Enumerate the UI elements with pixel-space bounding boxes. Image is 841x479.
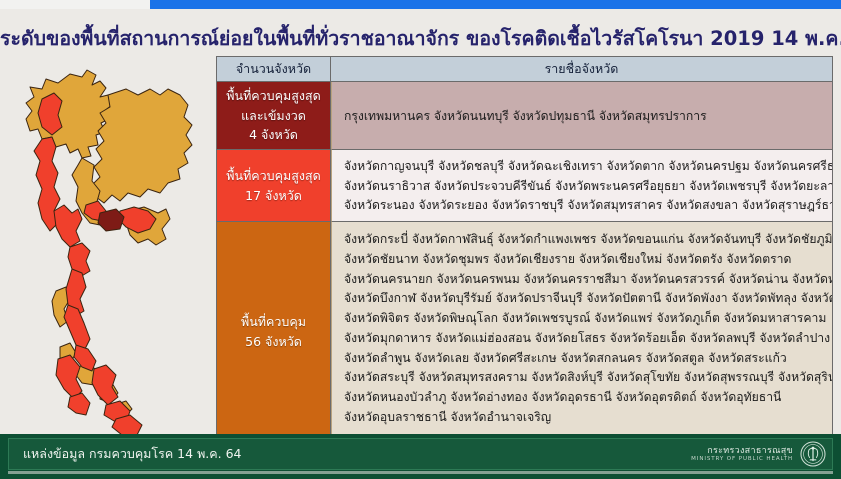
province-line: จังหวัดชัยนาท จังหวัดชุมพร จังหวัดเชียงร…: [344, 250, 822, 270]
table-header-count: จำนวนจังหวัด: [217, 57, 331, 82]
top-strip-left-blank: [0, 0, 150, 9]
footer-divider: [8, 471, 833, 474]
row-label-red: พื้นที่ควบคุมสูงสุด 17 จังหวัด: [217, 150, 331, 222]
data-source-text: แหล่งข้อมูล กรมควบคุมโรค 14 พ.ค. 64: [23, 444, 242, 464]
ministry-text: กระทรวงสาธารณสุข MINISTRY OF PUBLIC HEAL…: [691, 446, 793, 462]
map-region-nakhonsi-red: [92, 365, 118, 405]
row-level-line1: พื้นที่ควบคุมสูงสุด: [226, 166, 320, 185]
thailand-map: [8, 61, 213, 443]
row-province-count: 56 จังหวัด: [245, 332, 302, 351]
province-line: จังหวัดกระบี่ จังหวัดกาฬสินธุ์ จังหวัดกำ…: [344, 230, 822, 250]
province-level-table: จำนวนจังหวัด รายชื่อจังหวัด พื้นที่ควบคุ…: [216, 56, 833, 442]
table-row: พื้นที่ควบคุมสูงสุด 17 จังหวัด จังหวัดกา…: [217, 150, 832, 222]
table-header-province-names: รายชื่อจังหวัด: [331, 57, 832, 82]
thailand-map-svg: [8, 61, 213, 443]
ministry-branding: กระทรวงสาธารณสุข MINISTRY OF PUBLIC HEAL…: [691, 441, 826, 467]
province-lines: จังหวัดกาญจนบุรี จังหวัดชลบุรี จังหวัดฉะ…: [344, 157, 832, 216]
row-province-list-darkred: กรุงเทพมหานคร จังหวัดนนทบุรี จังหวัดปทุม…: [331, 82, 832, 150]
province-line: กรุงเทพมหานคร จังหวัดนนทบุรี จังหวัดปทุม…: [344, 107, 707, 127]
province-line: จังหวัดมุกดาหาร จังหวัดแม่ฮ่องสอน จังหวั…: [344, 329, 822, 349]
map-region-phangnga-krabi-red: [68, 393, 90, 415]
row-label-darkred: พื้นที่ควบคุมสูงสุด และเข้มงวด 4 จังหวัด: [217, 82, 331, 150]
row-level-line2: และเข้มงวด: [241, 106, 306, 125]
ministry-name-en: MINISTRY OF PUBLIC HEALTH: [691, 456, 793, 462]
province-line: จังหวัดบึงกาฬ จังหวัดบุรีรัมย์ จังหวัดปร…: [344, 289, 822, 309]
row-province-list-red: จังหวัดกาญจนบุรี จังหวัดชลบุรี จังหวัดฉะ…: [331, 150, 832, 222]
province-line: จังหวัดพิจิตร จังหวัดพิษณุโลก จังหวัดเพช…: [344, 309, 822, 329]
province-line: จังหวัดหนองบัวลำภู จังหวัดอ่างทอง จังหวั…: [344, 388, 822, 408]
ministry-seal-icon: [800, 441, 826, 467]
province-line: จังหวัดระนอง จังหวัดระยอง จังหวัดราชบุรี…: [344, 196, 832, 216]
province-line: จังหวัดนราธิวาส จังหวัดประจวบคีรีขันธ์ จ…: [344, 177, 832, 197]
table-row: พื้นที่ควบคุม 56 จังหวัด จังหวัดกระบี่ จ…: [217, 222, 832, 441]
footer-bar: แหล่งข้อมูล กรมควบคุมโรค 14 พ.ค. 64 กระท…: [0, 434, 841, 479]
video-player-top-strip: [0, 0, 841, 9]
row-level-line1: พื้นที่ควบคุมสูงสุด: [226, 86, 320, 105]
slide-stage: ระดับของพื้นที่สถานการณ์ย่อยในพื้นที่ทั่…: [0, 0, 841, 479]
row-level-line1: พื้นที่ควบคุม: [241, 312, 306, 331]
province-line: จังหวัดลำพูน จังหวัดเลย จังหวัดศรีสะเกษ …: [344, 349, 822, 369]
province-line: จังหวัดนครนายก จังหวัดนครพนม จังหวัดนครร…: [344, 270, 822, 290]
ministry-name-th: กระทรวงสาธารณสุข: [691, 446, 793, 456]
map-region-kanchanaburi-red: [54, 205, 82, 247]
table-row: พื้นที่ควบคุมสูงสุด และเข้มงวด 4 จังหวัด…: [217, 82, 832, 150]
page-title: ระดับของพื้นที่สถานการณ์ย่อยในพื้นที่ทั่…: [0, 23, 841, 54]
footer-inner-bar: แหล่งข้อมูล กรมควบคุมโรค 14 พ.ค. 64 กระท…: [8, 438, 833, 470]
province-line: จังหวัดอุบลราชธานี จังหวัดอำนาจเจริญ: [344, 408, 822, 428]
row-label-orange: พื้นที่ควบคุม 56 จังหวัด: [217, 222, 331, 441]
row-province-count: 4 จังหวัด: [249, 125, 298, 144]
table-header-row: จำนวนจังหวัด รายชื่อจังหวัด: [217, 57, 832, 82]
row-province-list-orange: จังหวัดกระบี่ จังหวัดกาฬสินธุ์ จังหวัดกำ…: [331, 222, 832, 441]
slide-body: ระดับของพื้นที่สถานการณ์ย่อยในพื้นที่ทั่…: [0, 9, 841, 434]
province-line: จังหวัดกาญจนบุรี จังหวัดชลบุรี จังหวัดฉะ…: [344, 157, 832, 177]
row-province-count: 17 จังหวัด: [245, 186, 302, 205]
province-line: จังหวัดสระบุรี จังหวัดสมุทรสงคราม จังหวั…: [344, 368, 822, 388]
